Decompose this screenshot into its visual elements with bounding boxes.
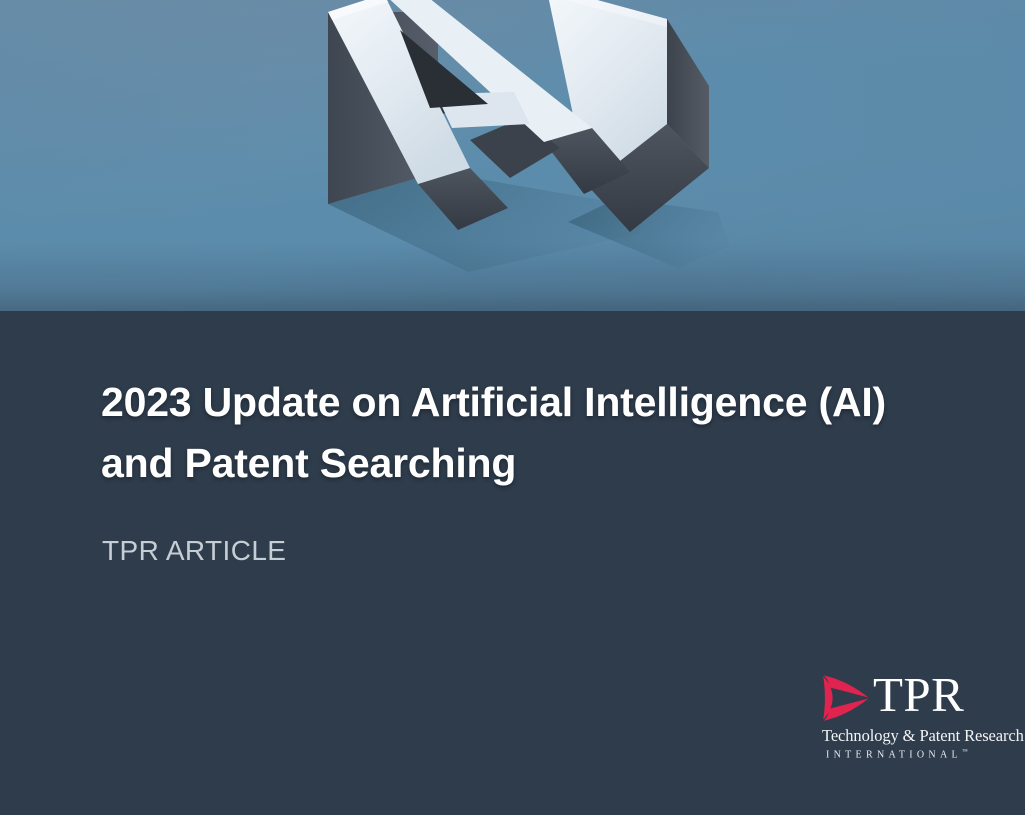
tpr-tagline: Technology & Patent Research [822,726,1024,746]
page-title: 2023 Update on Artificial Intelligence (… [101,372,891,494]
tpr-delta-arrow-icon [820,672,872,724]
tpr-logo[interactable]: TPR Technology & Patent Research INTERNA… [820,668,978,766]
hero-image [0,0,1025,311]
trademark-symbol: ™ [962,749,968,755]
ai-letters-3d [318,0,738,311]
tpr-subtagline-text: INTERNATIONAL [826,749,962,760]
tpr-logo-top: TPR [820,668,978,726]
tpr-wordmark: TPR [873,667,964,723]
article-hero-card: 2023 Update on Artificial Intelligence (… [0,0,1025,815]
article-type-label: TPR ARTICLE [102,534,286,568]
tpr-subtagline: INTERNATIONAL™ [826,746,968,761]
hero-image-inner [0,0,1025,311]
